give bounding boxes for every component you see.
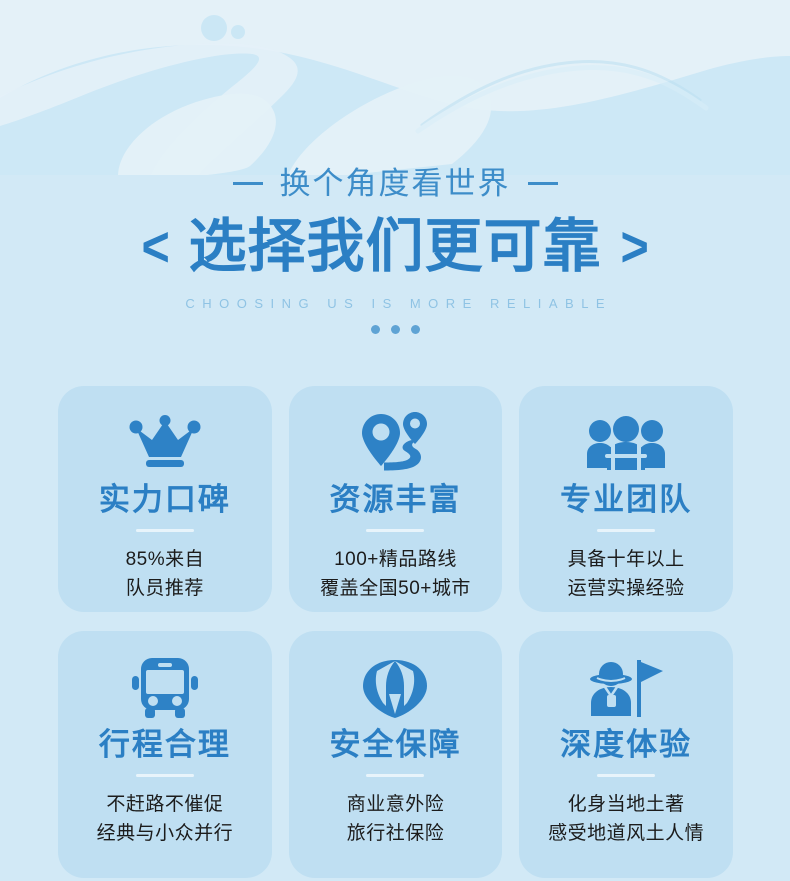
bus-icon [131,653,199,725]
wave-decoration [0,0,790,175]
dot-row [0,325,790,334]
dot-icon [371,325,380,334]
feature-card-reputation[interactable]: 实力口碑 85%来自 队员推荐 [58,386,272,612]
card-desc-line-1: 不赶路不催促 [97,790,234,819]
angle-bracket-right-icon: > [620,219,648,276]
card-description: 不赶路不催促 经典与小众并行 [97,790,234,849]
main-title-row: < 选择我们更可靠 > [0,212,790,282]
feature-card-team[interactable]: 专业团队 具备十年以上 运营实操经验 [519,386,733,612]
card-desc-line-1: 具备十年以上 [568,545,685,574]
card-title: 行程合理 [99,729,231,760]
card-title: 专业团队 [560,484,692,515]
page-title: 选择我们更可靠 [188,218,601,276]
card-desc-line-1: 化身当地土著 [548,790,704,819]
card-desc-line-2: 运营实操经验 [568,574,685,603]
diamond-icon [361,653,429,725]
card-divider [366,529,424,532]
card-title: 深度体验 [560,729,692,760]
feature-card-resources[interactable]: 资源丰富 100+精品路线 覆盖全国50+城市 [289,386,503,612]
card-description: 化身当地土著 感受地道风土人情 [548,790,704,849]
eyebrow-dash-left [233,182,263,185]
bubble-small-icon [231,25,245,39]
crown-icon [129,408,201,480]
card-description: 85%来自 队员推荐 [126,545,205,604]
card-divider [597,774,655,777]
people-group-icon [586,408,666,480]
card-divider [366,774,424,777]
card-divider [136,774,194,777]
card-divider [597,529,655,532]
card-desc-line-2: 覆盖全国50+城市 [320,574,471,603]
tour-guide-flag-icon [587,653,665,725]
card-description: 商业意外险 旅行社保险 [347,790,445,849]
card-desc-line-1: 85%来自 [126,545,205,574]
map-route-pin-icon [359,408,431,480]
feature-card-grid: 实力口碑 85%来自 队员推荐 资源丰富 100+精品路线 覆盖全国50+城市 [58,386,733,878]
dot-icon [411,325,420,334]
feature-card-safety[interactable]: 安全保障 商业意外险 旅行社保险 [289,631,503,878]
card-description: 100+精品路线 覆盖全国50+城市 [320,545,471,604]
card-title: 实力口碑 [99,484,231,515]
card-title: 资源丰富 [329,484,461,515]
subtitle-english: CHOOSING US IS MORE RELIABLE [0,296,790,311]
eyebrow-row: 换个角度看世界 [0,160,790,206]
card-description: 具备十年以上 运营实操经验 [568,545,685,604]
card-title: 安全保障 [329,729,461,760]
feature-card-experience[interactable]: 深度体验 化身当地土著 感受地道风土人情 [519,631,733,878]
bubble-large-icon [201,15,227,41]
page-header: 换个角度看世界 < 选择我们更可靠 > CHOOSING US IS MORE … [0,160,790,334]
angle-bracket-left-icon: < [142,219,170,276]
card-desc-line-2: 旅行社保险 [347,819,445,848]
eyebrow-dash-right [528,182,558,185]
feature-card-itinerary[interactable]: 行程合理 不赶路不催促 经典与小众并行 [58,631,272,878]
card-desc-line-1: 100+精品路线 [320,545,471,574]
card-desc-line-2: 感受地道风土人情 [548,819,704,848]
card-desc-line-2: 经典与小众并行 [97,819,234,848]
dot-icon [391,325,400,334]
card-divider [136,529,194,532]
card-desc-line-1: 商业意外险 [347,790,445,819]
eyebrow-text: 换个角度看世界 [280,168,511,199]
card-desc-line-2: 队员推荐 [126,574,205,603]
wave-graphic [0,0,790,175]
